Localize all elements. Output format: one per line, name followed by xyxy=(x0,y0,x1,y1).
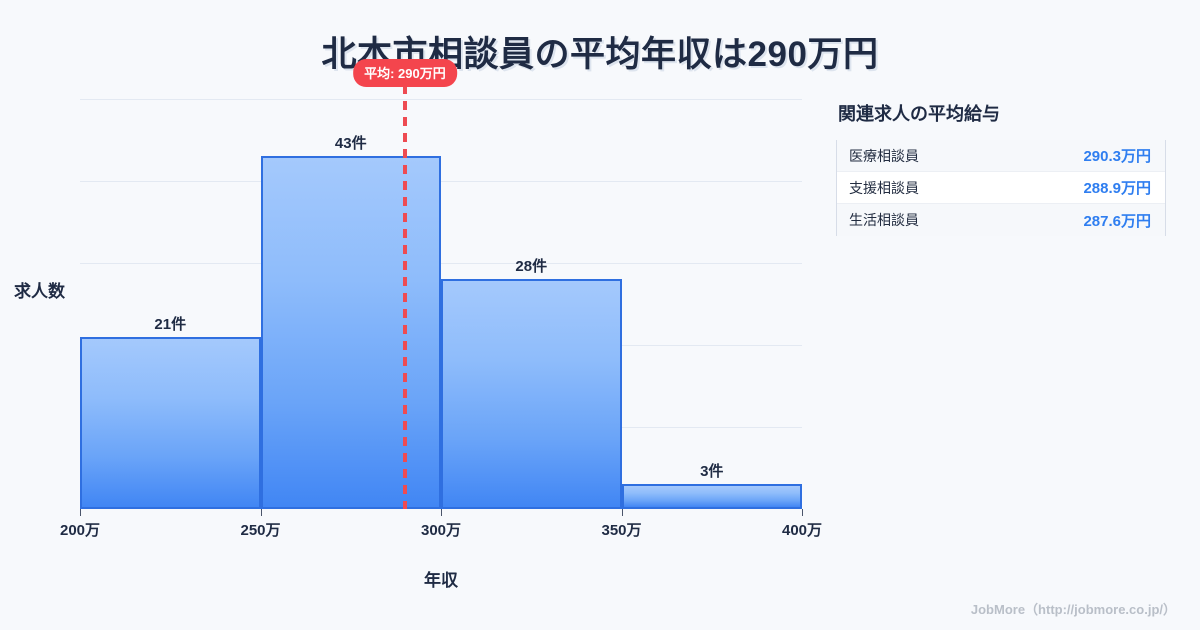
gridline xyxy=(80,99,802,100)
related-salary-title: 関連求人の平均給与 xyxy=(838,100,1166,126)
x-axis-tick-label: 200万 xyxy=(60,519,100,540)
x-axis-tick xyxy=(261,509,262,516)
y-axis-title: 求人数 xyxy=(14,277,65,302)
x-axis-tick xyxy=(802,509,803,516)
table-row-label: 支援相談員 xyxy=(849,178,919,198)
x-axis-tick-label: 300万 xyxy=(421,519,461,540)
table-row: 支援相談員288.9万円 xyxy=(837,172,1165,204)
bar-value-label: 28件 xyxy=(515,255,547,276)
average-line xyxy=(403,85,407,509)
related-salary-panel: 関連求人の平均給与 医療相談員290.3万円支援相談員288.9万円生活相談員2… xyxy=(836,100,1166,236)
footer-watermark: JobMore（http://jobmore.co.jp/） xyxy=(971,599,1176,618)
average-badge: 平均: 290万円 xyxy=(353,59,457,87)
chart-page: 北本市相談員の平均年収は290万円 求人数 21件43件28件3件200万250… xyxy=(0,0,1200,630)
bar[interactable] xyxy=(622,484,803,509)
plot-area: 21件43件28件3件200万250万300万350万400万平均: 290万円 xyxy=(80,99,802,509)
bar[interactable] xyxy=(80,337,261,509)
related-salary-table: 医療相談員290.3万円支援相談員288.9万円生活相談員287.6万円 xyxy=(836,140,1166,236)
x-axis-tick xyxy=(441,509,442,516)
table-row-label: 医療相談員 xyxy=(849,146,919,166)
table-row-value: 288.9万円 xyxy=(1083,177,1151,198)
table-row-value: 287.6万円 xyxy=(1083,210,1151,231)
x-axis-tick xyxy=(80,509,81,516)
gridline xyxy=(80,263,802,264)
gridline xyxy=(80,181,802,182)
x-axis-title: 年収 xyxy=(80,566,802,591)
x-axis-tick xyxy=(622,509,623,516)
x-axis-tick-label: 400万 xyxy=(782,519,822,540)
bar[interactable] xyxy=(441,279,622,509)
table-row: 生活相談員287.6万円 xyxy=(837,204,1165,236)
bar-value-label: 3件 xyxy=(700,460,723,481)
bar-value-label: 21件 xyxy=(154,313,186,334)
page-title: 北本市相談員の平均年収は290万円 xyxy=(0,26,1200,77)
table-row-label: 生活相談員 xyxy=(849,210,919,230)
x-axis-tick-label: 250万 xyxy=(240,519,280,540)
table-row-value: 290.3万円 xyxy=(1083,145,1151,166)
bar[interactable] xyxy=(261,156,442,509)
table-row: 医療相談員290.3万円 xyxy=(837,140,1165,172)
bar-value-label: 43件 xyxy=(335,132,367,153)
x-axis-tick-label: 350万 xyxy=(601,519,641,540)
